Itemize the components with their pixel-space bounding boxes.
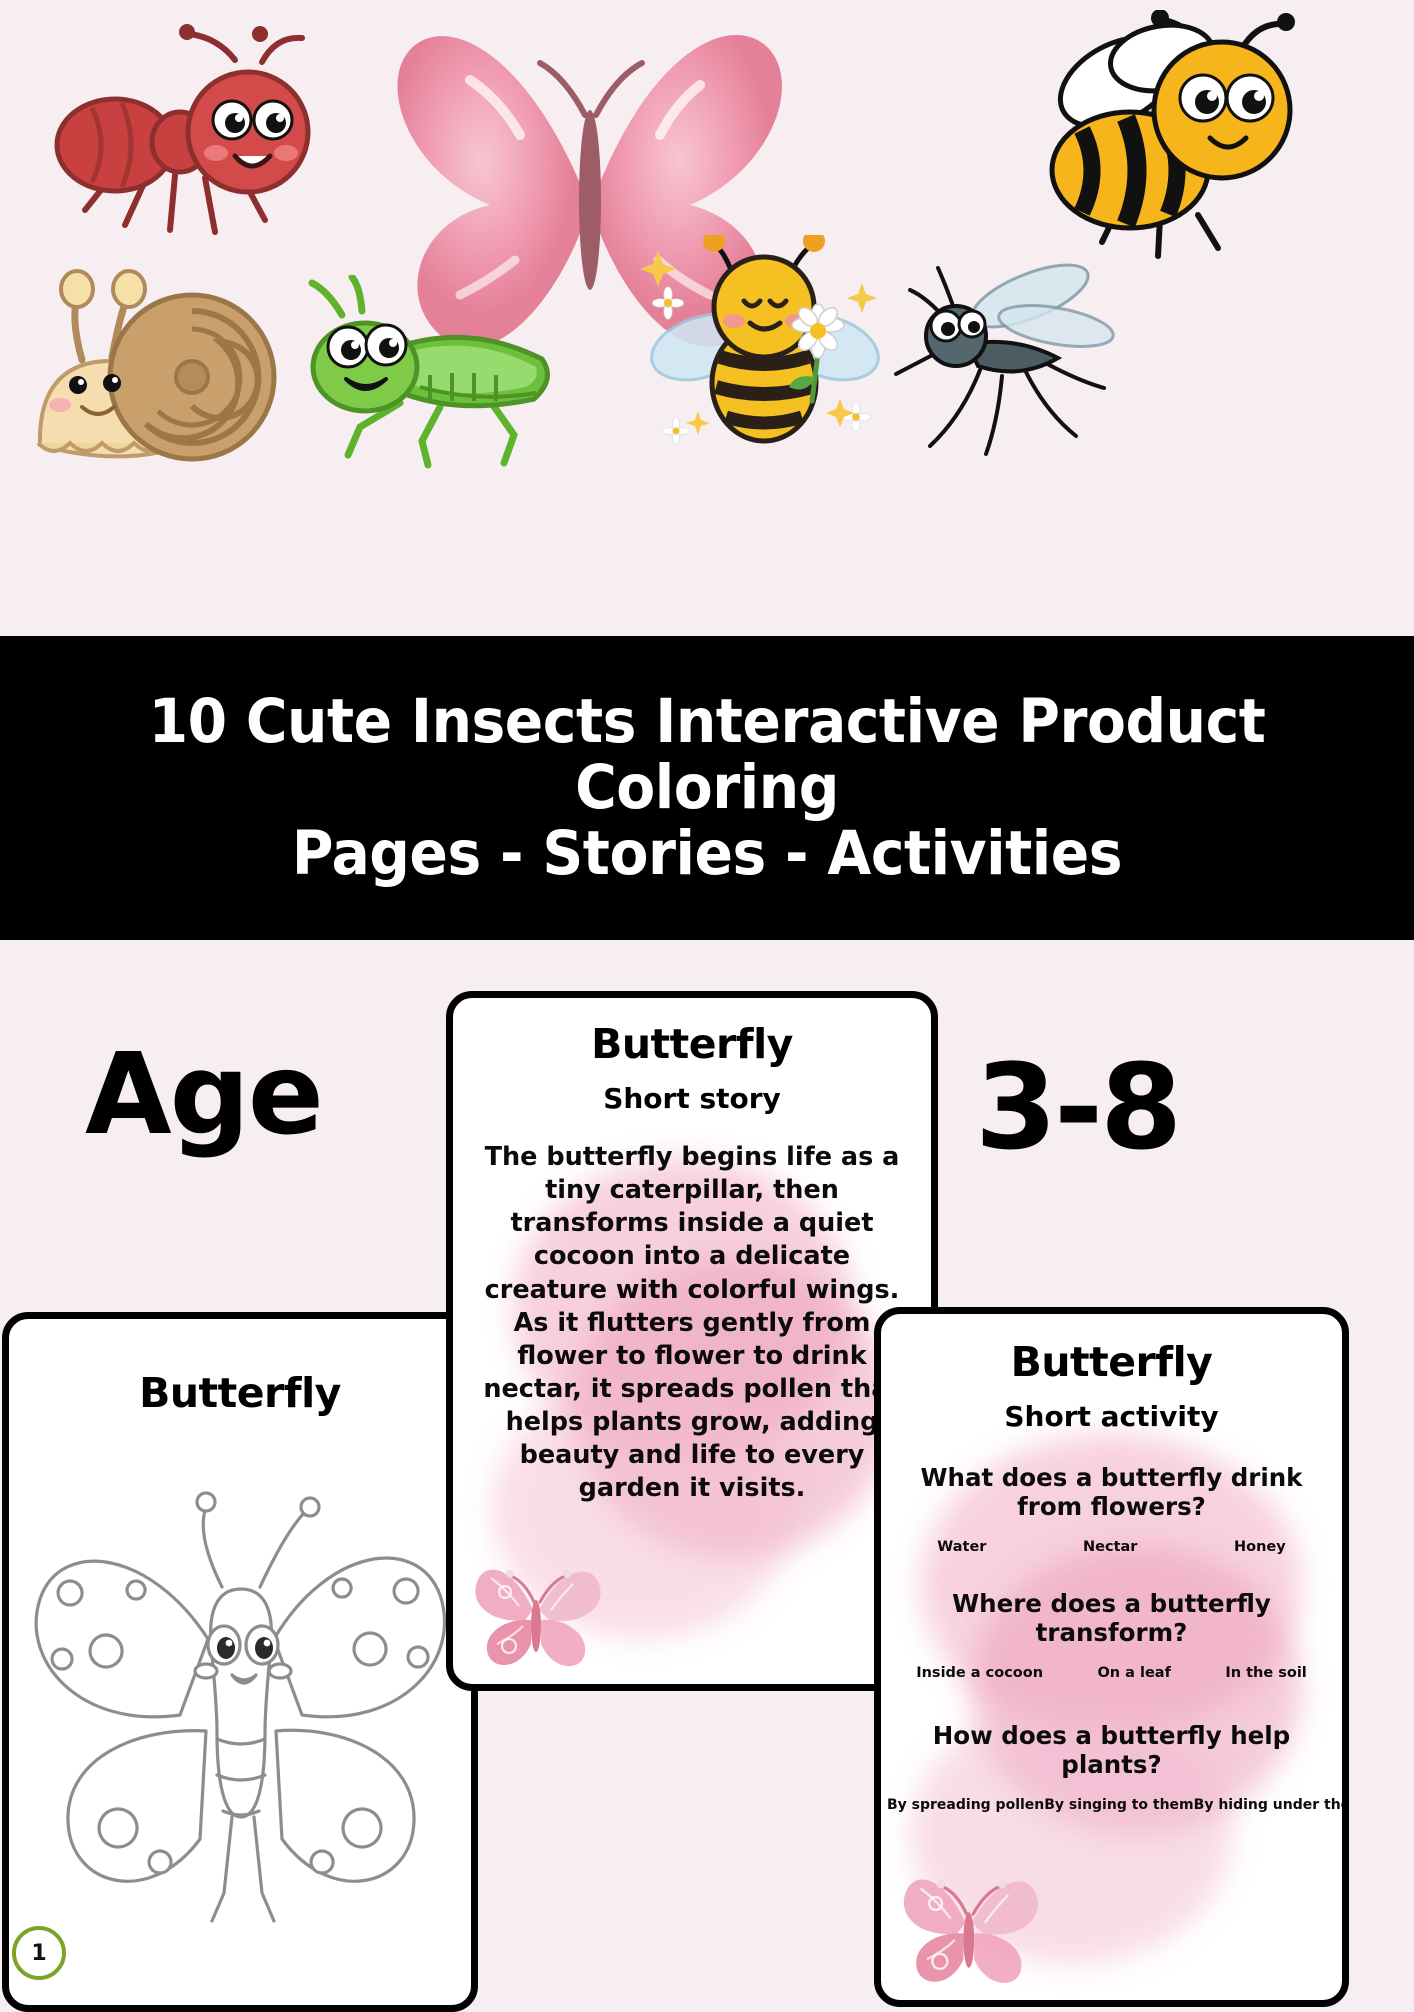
activity-question-prompt: Where does a butterfly transform? <box>881 1589 1342 1647</box>
activity-option[interactable]: Honey <box>1234 1539 1286 1555</box>
short-story-card[interactable]: Butterfly Short story The butterfly begi… <box>446 991 938 1691</box>
hero-illustration-strip <box>0 0 1414 636</box>
activity-card-title: Butterfly <box>881 1338 1342 1386</box>
page-number-badge: 1 <box>12 1926 66 1980</box>
activity-option[interactable]: By hiding under them <box>1194 1797 1349 1813</box>
snail-icon <box>20 265 300 485</box>
butterfly-decoration-icon <box>469 1548 609 1678</box>
age-range: 3-8 <box>975 1038 1179 1176</box>
activity-options-row: Inside a cocoon On a leaf In the soil <box>881 1665 1342 1681</box>
activity-question-prompt: How does a butterfly help plants? <box>881 1721 1342 1779</box>
activity-card-subtitle: Short activity <box>881 1400 1342 1433</box>
bee-icon <box>1010 10 1300 270</box>
butterfly-line-art <box>9 1439 471 1999</box>
activity-option[interactable]: Nectar <box>1083 1539 1137 1555</box>
activity-option[interactable]: On a leaf <box>1097 1665 1170 1681</box>
activity-option[interactable]: By singing to them <box>1044 1797 1193 1813</box>
page-title-line-1: 10 Cute Insects Interactive Product Colo… <box>75 689 1340 821</box>
activity-option[interactable]: By spreading pollen <box>887 1797 1044 1813</box>
bee-with-daisy-icon <box>640 235 890 465</box>
age-label: Age <box>85 1030 322 1160</box>
activity-option[interactable]: In the soil <box>1225 1665 1306 1681</box>
activity-question-block: What does a butterfly drink from flowers… <box>881 1463 1342 1555</box>
activity-option[interactable]: Inside a cocoon <box>916 1665 1043 1681</box>
grasshopper-icon <box>290 275 580 475</box>
activity-question-block: How does a butterfly help plants? By spr… <box>881 1721 1342 1813</box>
mosquito-icon <box>890 240 1120 470</box>
activity-options-row: By spreading pollen By singing to them B… <box>881 1797 1342 1813</box>
ant-icon <box>30 20 330 250</box>
butterfly-decoration-icon <box>897 1856 1047 1996</box>
story-card-title: Butterfly <box>453 1020 931 1068</box>
activity-options-row: Water Nectar Honey <box>881 1539 1342 1555</box>
coloring-page-card[interactable]: Butterfly <box>2 1312 478 2012</box>
activity-option[interactable]: Water <box>937 1539 986 1555</box>
coloring-card-title: Butterfly <box>9 1369 471 1417</box>
title-banner: 10 Cute Insects Interactive Product Colo… <box>0 636 1414 940</box>
story-card-body: The butterfly begins life as a tiny cate… <box>453 1141 931 1506</box>
short-activity-card[interactable]: Butterfly Short activity What does a but… <box>874 1307 1349 2007</box>
page-title-line-2: Pages - Stories - Activities <box>75 821 1340 887</box>
activity-question-block: Where does a butterfly transform? Inside… <box>881 1589 1342 1681</box>
page-title: 10 Cute Insects Interactive Product Colo… <box>75 689 1340 887</box>
activity-question-prompt: What does a butterfly drink from flowers… <box>881 1463 1342 1521</box>
story-card-subtitle: Short story <box>453 1082 931 1115</box>
